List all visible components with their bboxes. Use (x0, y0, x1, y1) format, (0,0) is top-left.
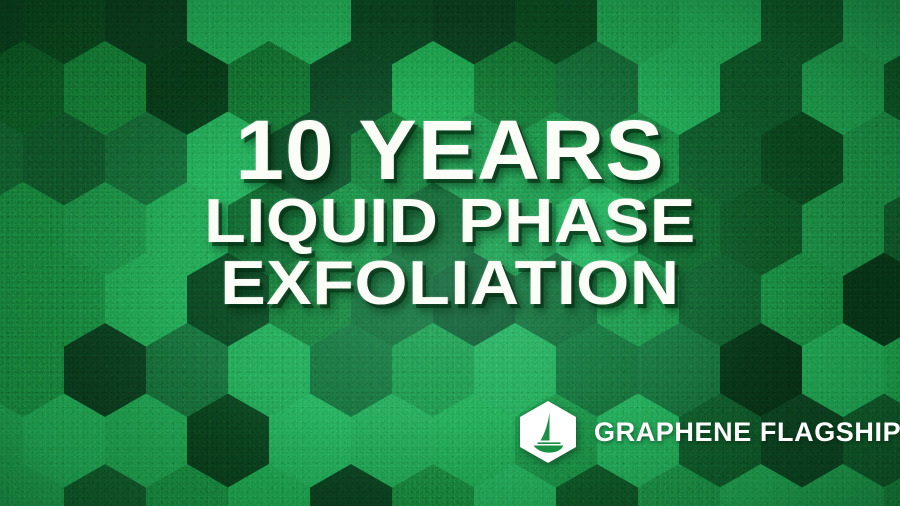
logo-wordmark: GRAPHENE FLAGSHIP (594, 417, 900, 448)
poster-canvas: 10 YEARS LIQUID PHASE EXFOLIATION GRAPHE… (0, 0, 900, 506)
graphene-flagship-logo-icon (518, 400, 578, 464)
logo-lockup: GRAPHENE FLAGSHIP (518, 400, 900, 464)
